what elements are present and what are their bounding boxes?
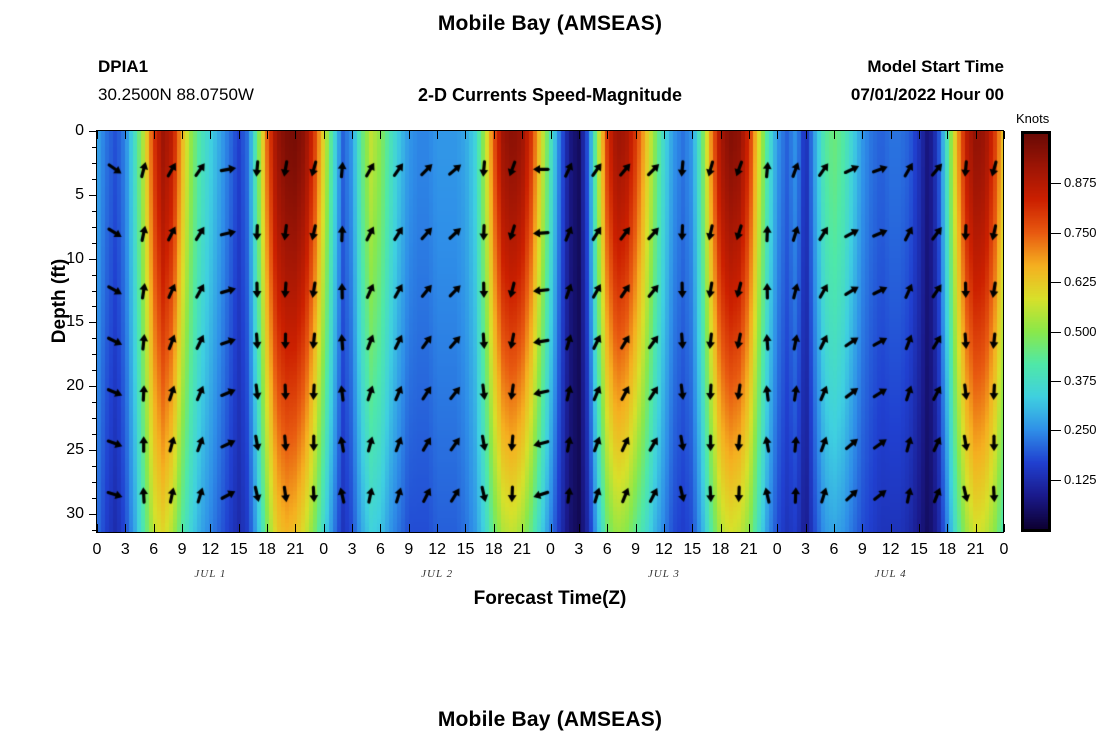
x-axis-day-label: JUL 3 <box>619 568 709 580</box>
x-tick-mark <box>749 524 750 532</box>
colorbar-tick-mark <box>1051 430 1061 431</box>
colorbar-tick-label: 0.125 <box>1064 472 1097 487</box>
colorbar-tick-label: 0.500 <box>1064 324 1097 339</box>
y-tick-mark <box>89 450 97 451</box>
x-tick-mark <box>324 524 325 532</box>
y-minor-tick-mark <box>92 482 97 483</box>
x-tick-label: 0 <box>987 541 1021 559</box>
y-minor-tick-mark <box>92 306 97 307</box>
x-axis-day-label: JUL 2 <box>392 568 482 580</box>
x-tick-mark-top <box>749 131 750 139</box>
x-tick-mark-top <box>295 131 296 139</box>
x-tick-mark-top <box>97 131 98 139</box>
x-tick-mark <box>806 524 807 532</box>
y-minor-tick-mark <box>92 402 97 403</box>
colorbar-gradient <box>1024 134 1048 529</box>
x-tick-mark-top <box>324 131 325 139</box>
x-tick-mark <box>891 524 892 532</box>
x-tick-mark-top <box>551 131 552 139</box>
station-id-label: DPIA1 <box>98 57 148 77</box>
y-tick-label: 25 <box>38 441 84 459</box>
y-minor-tick-mark <box>92 147 97 148</box>
x-axis-label: Forecast Time(Z) <box>96 588 1004 610</box>
y-minor-tick-mark <box>92 370 97 371</box>
x-tick-mark-top <box>465 131 466 139</box>
y-tick-mark <box>89 131 97 132</box>
y-tick-mark <box>89 259 97 260</box>
colorbar-tick-label: 0.750 <box>1064 225 1097 240</box>
x-tick-mark <box>494 524 495 532</box>
x-tick-mark-top <box>154 131 155 139</box>
y-minor-tick-mark <box>92 275 97 276</box>
x-tick-mark <box>437 524 438 532</box>
y-tick-mark <box>89 514 97 515</box>
x-tick-mark <box>380 524 381 532</box>
x-tick-mark-top <box>380 131 381 139</box>
y-minor-tick-mark <box>92 179 97 180</box>
y-tick-label: 5 <box>38 186 84 204</box>
x-tick-mark <box>607 524 608 532</box>
x-tick-mark <box>664 524 665 532</box>
colorbar-tick-mark <box>1051 282 1061 283</box>
y-minor-tick-mark <box>92 211 97 212</box>
y-minor-tick-mark <box>92 291 97 292</box>
colorbar-tick-label: 0.625 <box>1064 274 1097 289</box>
speed-magnitude-heatmap <box>97 131 1004 533</box>
x-tick-mark <box>125 524 126 532</box>
x-tick-mark-top <box>579 131 580 139</box>
x-tick-mark-top <box>494 131 495 139</box>
colorbar-tick-mark <box>1051 332 1061 333</box>
x-tick-mark-top <box>607 131 608 139</box>
x-tick-mark-top <box>125 131 126 139</box>
x-tick-mark <box>267 524 268 532</box>
colorbar-tick-mark <box>1051 480 1061 481</box>
y-minor-tick-mark <box>92 418 97 419</box>
page-title: Mobile Bay (AMSEAS) <box>0 12 1100 36</box>
x-tick-mark-top <box>352 131 353 139</box>
x-tick-mark-top <box>834 131 835 139</box>
x-tick-mark <box>692 524 693 532</box>
x-tick-mark-top <box>721 131 722 139</box>
x-tick-mark <box>636 524 637 532</box>
y-axis-label: Depth (ft) <box>49 221 71 381</box>
colorbar-tick-mark <box>1051 233 1061 234</box>
x-tick-mark <box>239 524 240 532</box>
y-minor-tick-mark <box>92 227 97 228</box>
x-tick-mark-top <box>239 131 240 139</box>
x-tick-mark <box>409 524 410 532</box>
colorbar-tick-label: 0.375 <box>1064 373 1097 388</box>
y-tick-mark <box>89 386 97 387</box>
x-tick-mark-top <box>267 131 268 139</box>
x-tick-mark <box>947 524 948 532</box>
x-tick-mark <box>210 524 211 532</box>
x-tick-mark <box>1004 524 1005 532</box>
x-axis-day-label: JUL 1 <box>165 568 255 580</box>
x-tick-mark-top <box>664 131 665 139</box>
y-minor-tick-mark <box>92 498 97 499</box>
x-tick-mark <box>522 524 523 532</box>
x-tick-mark-top <box>409 131 410 139</box>
x-tick-mark-top <box>806 131 807 139</box>
x-tick-mark-top <box>437 131 438 139</box>
y-minor-tick-mark <box>92 354 97 355</box>
x-tick-mark-top <box>862 131 863 139</box>
x-tick-mark-top <box>210 131 211 139</box>
colorbar-unit-label: Knots <box>1016 111 1049 126</box>
x-tick-mark <box>862 524 863 532</box>
x-tick-mark <box>465 524 466 532</box>
x-tick-mark-top <box>692 131 693 139</box>
x-tick-mark-top <box>636 131 637 139</box>
model-start-time-label: Model Start Time <box>867 57 1004 77</box>
x-tick-mark <box>295 524 296 532</box>
model-start-time-value: 07/01/2022 Hour 00 <box>851 85 1004 105</box>
y-minor-tick-mark <box>92 243 97 244</box>
x-tick-mark <box>154 524 155 532</box>
x-tick-mark <box>777 524 778 532</box>
colorbar-tick-label: 0.250 <box>1064 422 1097 437</box>
x-tick-mark-top <box>947 131 948 139</box>
y-tick-label: 0 <box>38 122 84 140</box>
colorbar-tick-mark <box>1051 381 1061 382</box>
footer-title: Mobile Bay (AMSEAS) <box>0 708 1100 732</box>
x-tick-mark-top <box>919 131 920 139</box>
y-tick-label: 30 <box>38 505 84 523</box>
y-tick-mark <box>89 195 97 196</box>
x-tick-mark-top <box>1004 131 1005 139</box>
y-minor-tick-mark <box>92 434 97 435</box>
x-tick-mark <box>721 524 722 532</box>
x-tick-mark <box>352 524 353 532</box>
x-tick-mark-top <box>777 131 778 139</box>
x-tick-mark <box>579 524 580 532</box>
x-tick-mark <box>919 524 920 532</box>
y-minor-tick-mark <box>92 466 97 467</box>
y-minor-tick-mark <box>92 163 97 164</box>
colorbar-tick-label: 0.875 <box>1064 175 1097 190</box>
x-tick-mark <box>834 524 835 532</box>
x-tick-mark <box>976 524 977 532</box>
x-tick-mark <box>97 524 98 532</box>
x-axis-day-label: JUL 4 <box>846 568 936 580</box>
y-tick-mark <box>89 322 97 323</box>
x-tick-mark <box>551 524 552 532</box>
x-tick-mark-top <box>182 131 183 139</box>
x-tick-mark-top <box>522 131 523 139</box>
y-minor-tick-mark <box>92 338 97 339</box>
x-tick-mark <box>182 524 183 532</box>
colorbar-tick-mark <box>1051 183 1061 184</box>
x-tick-mark-top <box>976 131 977 139</box>
x-tick-mark-top <box>891 131 892 139</box>
